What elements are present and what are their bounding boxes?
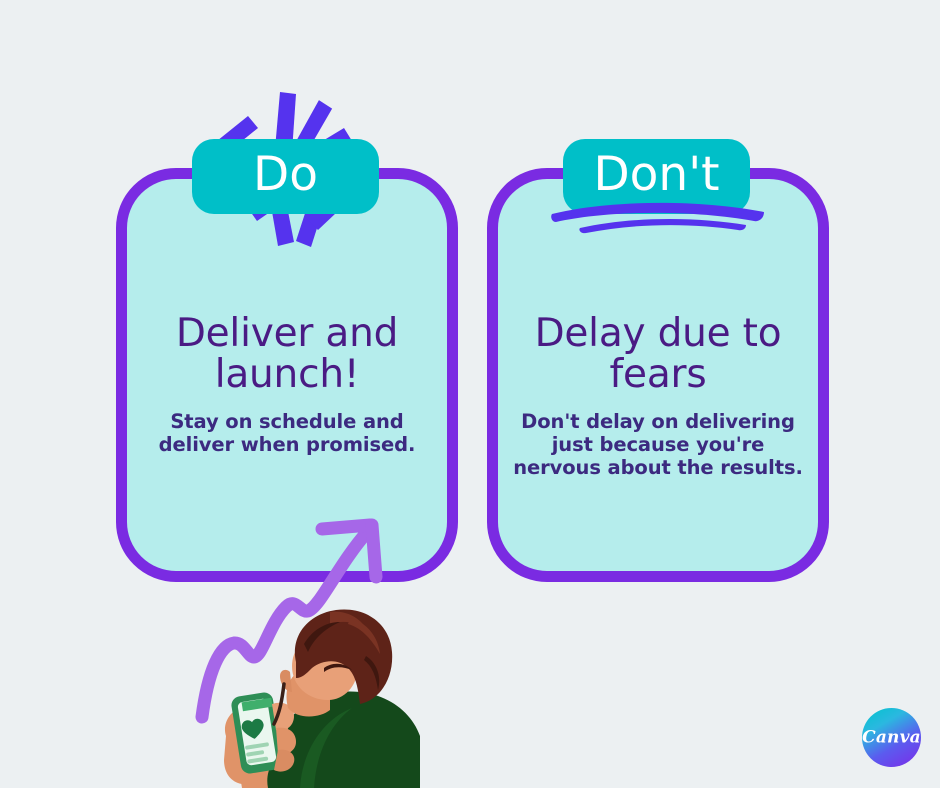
canva-wordmark: Canva [862, 727, 921, 747]
do-card-body: Stay on schedule and deliver when promis… [141, 410, 433, 456]
do-card-title: Deliver and launch! [141, 313, 433, 395]
badge-do-label: Do [253, 151, 318, 198]
dont-card: Delay due to fears Don't delay on delive… [487, 168, 829, 582]
do-card-content: Deliver and launch! Stay on schedule and… [127, 313, 447, 456]
person-holding-phone-illustration [180, 596, 420, 788]
badge-dont-label: Don't [593, 151, 719, 198]
canva-logo[interactable]: Canva [862, 708, 921, 767]
do-card: Deliver and launch! Stay on schedule and… [116, 168, 458, 582]
badge-do: Do [192, 139, 379, 214]
dont-card-content: Delay due to fears Don't delay on delive… [498, 313, 818, 479]
badge-dont: Don't [563, 139, 750, 214]
dont-card-body: Don't delay on delivering just because y… [512, 410, 804, 479]
poster-canvas: Deliver and launch! Stay on schedule and… [0, 0, 940, 788]
dont-card-title: Delay due to fears [512, 313, 804, 395]
